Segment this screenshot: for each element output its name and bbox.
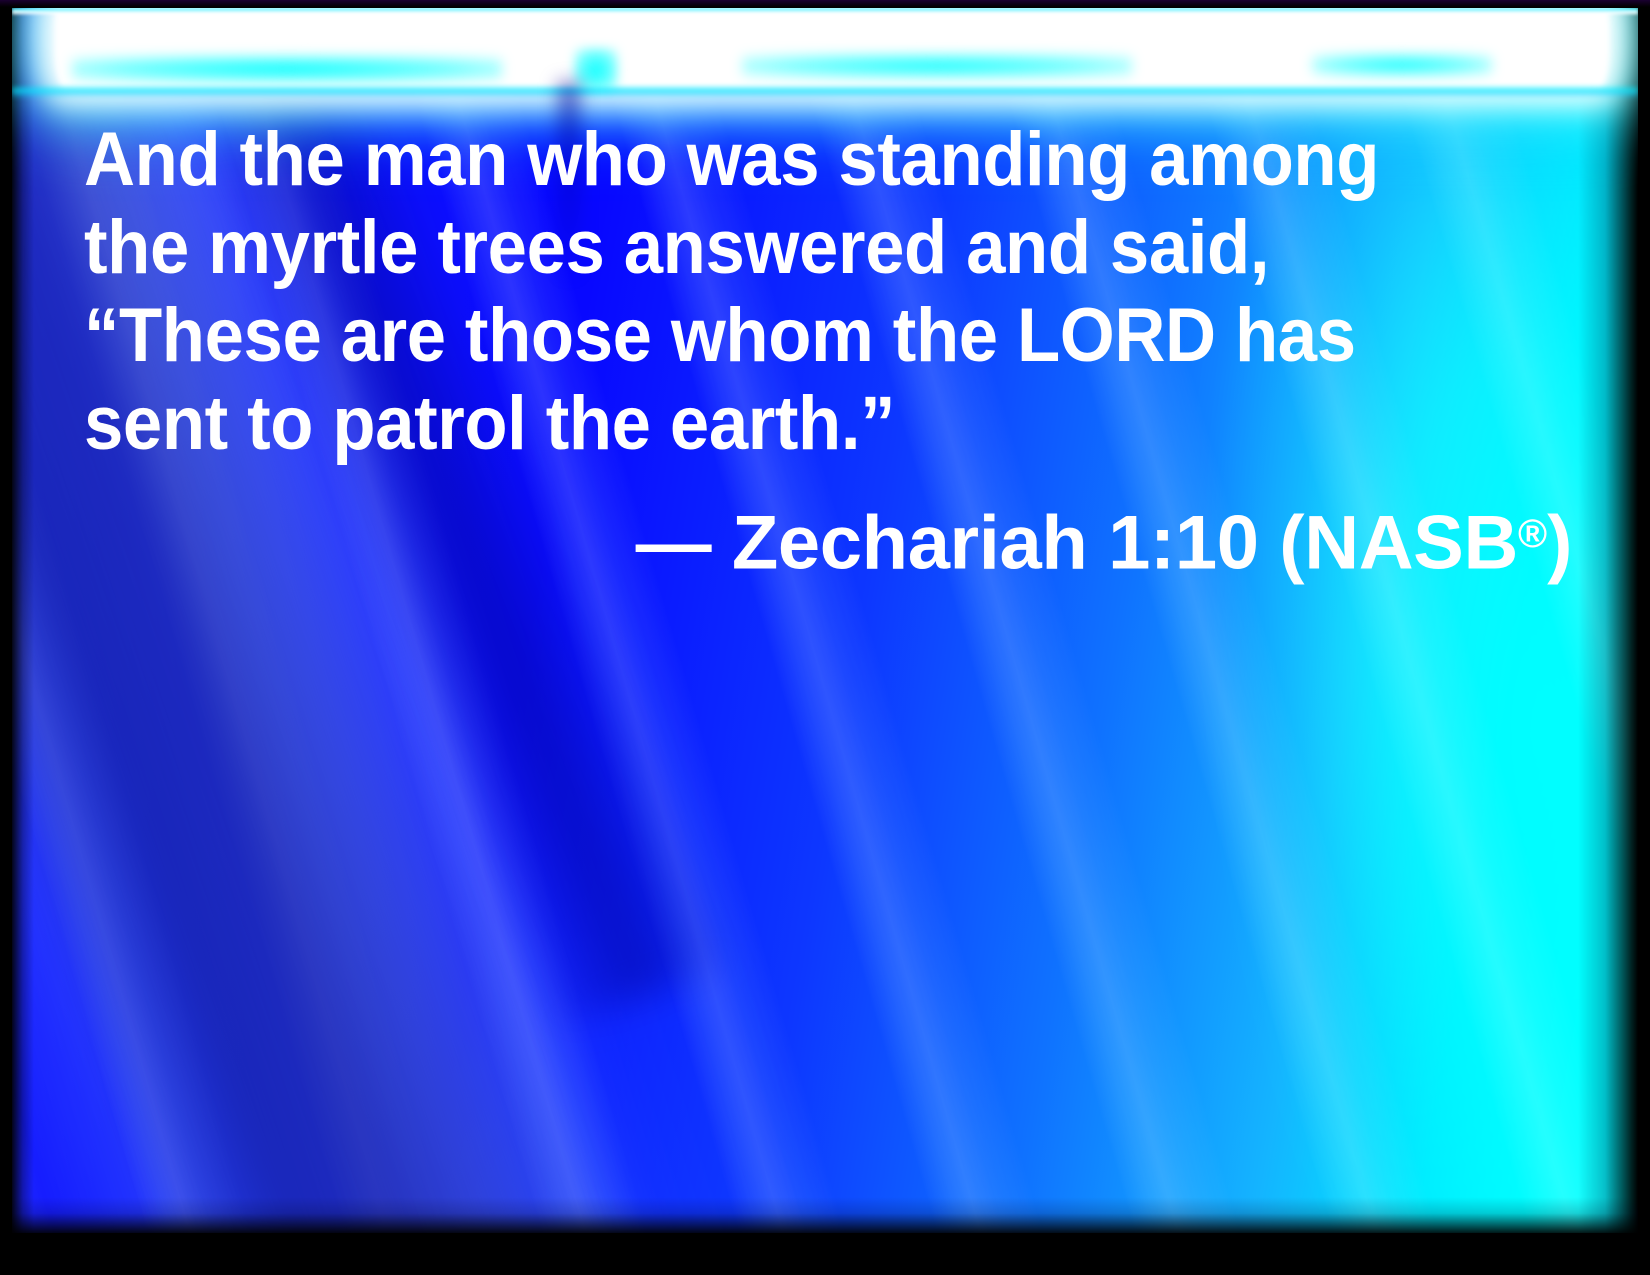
quote-line-3: “These are those whom the LORD has	[84, 292, 1479, 380]
quote-text-block: And the man who was standing among the m…	[84, 116, 1584, 588]
glow-bottom-edge-line	[12, 88, 1638, 98]
attribution-reference: 1:10	[1108, 501, 1259, 586]
quote-slide: And the man who was standing among the m…	[0, 0, 1650, 1275]
slide-canvas: And the man who was standing among the m…	[12, 8, 1638, 1233]
quote-line-4: sent to patrol the earth.”	[84, 380, 1479, 468]
glow-top-edge-line	[12, 8, 1638, 14]
glow-cyan-streak-center	[574, 48, 618, 92]
attribution-book: Zechariah	[732, 501, 1087, 586]
glow-cyan-streak-left	[72, 56, 502, 82]
background-right-edge-fade	[1578, 8, 1638, 1233]
glow-cyan-streak-right	[742, 54, 1132, 78]
quote-line-1: And the man who was standing among	[84, 116, 1479, 204]
glow-cyan-streak-far-right	[1312, 54, 1492, 76]
attribution-dash: —	[636, 501, 712, 586]
attribution-version-close: )	[1547, 501, 1572, 586]
attribution-version-open: (NASB	[1279, 501, 1518, 586]
scripture-attribution: — Zechariah 1:10 (NASB®)	[84, 468, 1584, 588]
quote-line-2: the myrtle trees answered and said,	[84, 204, 1479, 292]
background-left-edge-fade	[12, 8, 34, 1233]
top-glow-band	[12, 8, 1638, 100]
background-bottom-edge-fade	[12, 1197, 1638, 1233]
registered-trademark-icon: ®	[1518, 512, 1547, 556]
